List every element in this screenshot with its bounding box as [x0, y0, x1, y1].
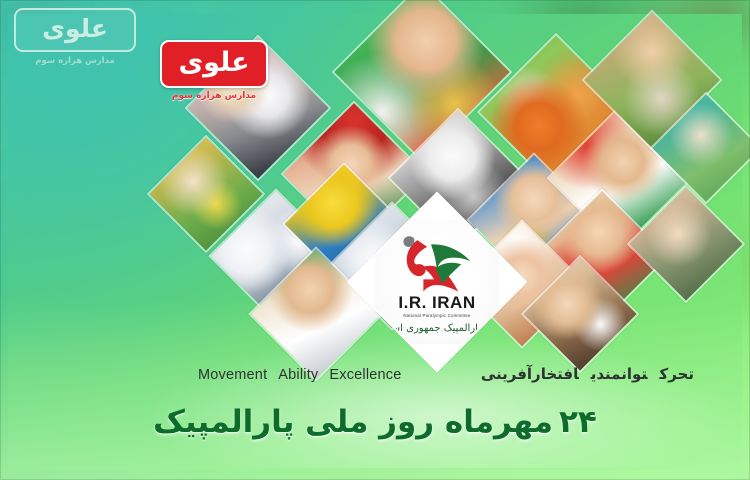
slogan-persian: تحرکتوانمندیافتخارآفرینی: [481, 365, 694, 383]
headline-date-number: ۲۴: [559, 404, 597, 440]
watermark-subtitle: مدارس هزاره سوم: [14, 56, 136, 66]
headline-text: مهرماه روز ملی پارالمپیک: [153, 404, 553, 440]
corner-watermark: علوی مدارس هزاره سوم: [14, 8, 136, 66]
emblem-title: I.R. IRAN: [398, 294, 475, 311]
poster-canvas: I.R. IRAN National Paralympic Committee …: [0, 0, 750, 480]
emblem-subtitle: National Paralympic Committee: [403, 313, 470, 318]
headline-paralympic-day: ۲۴مهرماه روز ملی پارالمپیک: [0, 404, 750, 440]
slogan-en-word-0: Movement: [198, 367, 267, 383]
alavi-brand-logo: علوی مدارس هزاره سوم: [160, 40, 268, 101]
slogan-english: MovementAbilityExcellence: [198, 367, 402, 383]
alavi-badge: علوی: [160, 40, 268, 88]
slogan-en-word-2: Excellence: [329, 367, 401, 383]
slogan-fa-word-2: افتخارآفرینی: [481, 365, 579, 383]
alavi-wordmark: علوی: [178, 49, 249, 76]
slogan-en-word-1: Ability: [278, 367, 318, 383]
watermark-wordmark: علوی: [42, 16, 108, 41]
slogan-fa-word-0: تحرک: [660, 365, 695, 383]
alavi-subtitle: مدارس هزاره سوم: [160, 91, 268, 101]
watermark-badge: علوی: [14, 8, 136, 52]
paralympic-agitos-icon: [391, 231, 483, 293]
slogan-fa-word-1: توانمندی: [591, 365, 648, 383]
